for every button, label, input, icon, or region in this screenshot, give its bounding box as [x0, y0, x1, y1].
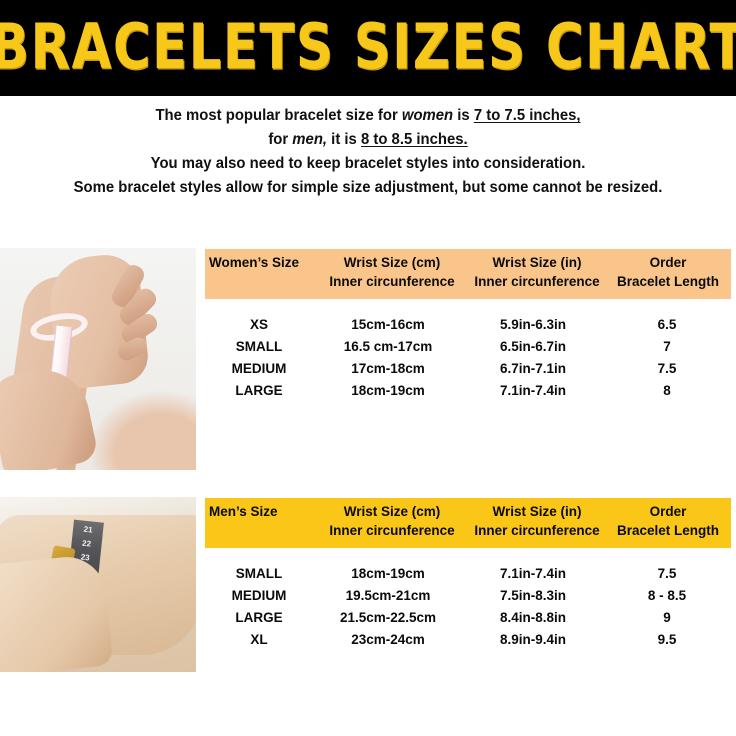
- table-row: LARGE 21.5cm-22.5cm 8.4in-8.8in 9: [205, 607, 731, 629]
- cell-size: LARGE: [205, 608, 313, 628]
- cell-wrist-in: 5.9in-6.3in: [463, 315, 603, 335]
- title-banner: BRACELETS SIZES CHART: [0, 0, 736, 96]
- womens-size-table: Women’s Size Wrist Size (cm) Inner circu…: [205, 249, 731, 402]
- cell-wrist-cm: 17cm-18cm: [313, 359, 463, 379]
- cell-wrist-cm: 21.5cm-22.5cm: [313, 608, 463, 628]
- cell-size: MEDIUM: [205, 586, 313, 606]
- intro-paragraph: The most popular bracelet size for women…: [15, 104, 722, 200]
- cell-wrist-in: 7.1in-7.4in: [463, 381, 603, 401]
- men-wrist-measuring-photo: 21 22 23 24 25: [0, 497, 196, 672]
- womens-header-wrist-cm: Wrist Size (cm) Inner circunference: [317, 253, 467, 299]
- mens-header-wrist-cm-line2: Inner circunference: [329, 521, 454, 540]
- men-hand-shape: [0, 553, 114, 672]
- mens-header-size-line1: Men’s Size: [209, 502, 278, 521]
- womens-header-order-length: Order Bracelet Length: [607, 253, 729, 299]
- mens-header-wrist-cm-line1: Wrist Size (cm): [344, 502, 441, 521]
- womens-header-wrist-in-line2: Inner circunference: [474, 272, 599, 291]
- intro-women-size-underlined: 7 to 7.5 inches,: [474, 107, 581, 124]
- womens-header-wrist-in-line1: Wrist Size (in): [492, 253, 581, 272]
- womens-header-wrist-cm-line1: Wrist Size (cm): [344, 253, 441, 272]
- table-row: LARGE 18cm-19cm 7.1in-7.4in 8: [205, 380, 731, 402]
- womens-header-wrist-cm-line2: Inner circunference: [329, 272, 454, 291]
- cell-size: LARGE: [205, 381, 313, 401]
- cell-wrist-cm: 15cm-16cm: [313, 315, 463, 335]
- intro-line-1-part-b: is: [453, 107, 474, 124]
- cell-wrist-in: 7.1in-7.4in: [463, 564, 603, 584]
- mens-header-wrist-cm: Wrist Size (cm) Inner circunference: [317, 502, 467, 548]
- womens-header-size-line1: Women’s Size: [209, 253, 299, 272]
- cell-wrist-in: 7.5in-8.3in: [463, 586, 603, 606]
- page-title: BRACELETS SIZES CHART: [0, 17, 736, 80]
- cell-order-length: 9.5: [603, 630, 731, 650]
- cell-wrist-in: 6.5in-6.7in: [463, 337, 603, 357]
- table-row: XS 15cm-16cm 5.9in-6.3in 6.5: [205, 314, 731, 336]
- mens-header-wrist-in-line1: Wrist Size (in): [492, 502, 581, 521]
- intro-line-4: Some bracelet styles allow for simple si…: [15, 176, 722, 200]
- strap-number: 21: [73, 524, 104, 536]
- table-row: XL 23cm-24cm 8.9in-9.4in 9.5: [205, 629, 731, 651]
- cell-wrist-cm: 18cm-19cm: [313, 564, 463, 584]
- cell-wrist-cm: 19.5cm-21cm: [313, 586, 463, 606]
- cell-order-length: 8 - 8.5: [603, 586, 731, 606]
- cell-size: MEDIUM: [205, 359, 313, 379]
- cell-wrist-cm: 23cm-24cm: [313, 630, 463, 650]
- intro-women-emphasis: women: [402, 107, 453, 124]
- mens-header-size: Men’s Size: [209, 502, 317, 548]
- mens-table-body: SMALL 18cm-19cm 7.1in-7.4in 7.5 MEDIUM 1…: [205, 548, 731, 651]
- women-wrist-measuring-photo: [0, 248, 196, 470]
- cell-order-length: 8: [603, 381, 731, 401]
- cell-wrist-in: 8.4in-8.8in: [463, 608, 603, 628]
- womens-header-order-line1: Order: [650, 253, 687, 272]
- table-row: SMALL 16.5 cm-17cm 6.5in-6.7in 7: [205, 336, 731, 358]
- mens-size-table: Men’s Size Wrist Size (cm) Inner circunf…: [205, 498, 731, 651]
- cell-wrist-in: 6.7in-7.1in: [463, 359, 603, 379]
- cell-order-length: 9: [603, 608, 731, 628]
- mens-header-order-line1: Order: [650, 502, 687, 521]
- mens-header-order-line2: Bracelet Length: [617, 521, 719, 540]
- intro-line-3: You may also need to keep bracelet style…: [15, 152, 722, 176]
- womens-header-wrist-in: Wrist Size (in) Inner circunference: [467, 253, 607, 299]
- intro-line-1: The most popular bracelet size for women…: [15, 104, 722, 128]
- mens-header-wrist-in: Wrist Size (in) Inner circunference: [467, 502, 607, 548]
- bracelet-size-chart-page: BRACELETS SIZES CHART The most popular b…: [0, 0, 736, 736]
- table-row: SMALL 18cm-19cm 7.1in-7.4in 7.5: [205, 563, 731, 585]
- womens-header-size: Women’s Size: [209, 253, 317, 299]
- cell-order-length: 6.5: [603, 315, 731, 335]
- womens-table-header-row: Women’s Size Wrist Size (cm) Inner circu…: [205, 249, 731, 299]
- intro-men-emphasis: men,: [292, 131, 327, 148]
- cell-wrist-in: 8.9in-9.4in: [463, 630, 603, 650]
- womens-table-body: XS 15cm-16cm 5.9in-6.3in 6.5 SMALL 16.5 …: [205, 299, 731, 402]
- table-row: MEDIUM 17cm-18cm 6.7in-7.1in 7.5: [205, 358, 731, 380]
- intro-line-2: for men, it is 8 to 8.5 inches.: [15, 128, 722, 152]
- cell-wrist-cm: 16.5 cm-17cm: [313, 337, 463, 357]
- cell-order-length: 7: [603, 337, 731, 357]
- cell-size: SMALL: [205, 337, 313, 357]
- cell-size: XL: [205, 630, 313, 650]
- cell-wrist-cm: 18cm-19cm: [313, 381, 463, 401]
- mens-header-wrist-in-line2: Inner circunference: [474, 521, 599, 540]
- strap-number: 22: [71, 538, 102, 550]
- cell-size: SMALL: [205, 564, 313, 584]
- intro-line-2-part-a: for: [268, 131, 292, 148]
- womens-header-order-line2: Bracelet Length: [617, 272, 719, 291]
- intro-line-2-part-b: it is: [327, 131, 361, 148]
- intro-line-1-part-a: The most popular bracelet size for: [155, 107, 401, 124]
- intro-men-size-underlined: 8 to 8.5 inches.: [361, 131, 468, 148]
- table-row: MEDIUM 19.5cm-21cm 7.5in-8.3in 8 - 8.5: [205, 585, 731, 607]
- cell-size: XS: [205, 315, 313, 335]
- cell-order-length: 7.5: [603, 564, 731, 584]
- mens-table-header-row: Men’s Size Wrist Size (cm) Inner circunf…: [205, 498, 731, 548]
- mens-header-order-length: Order Bracelet Length: [607, 502, 729, 548]
- cell-order-length: 7.5: [603, 359, 731, 379]
